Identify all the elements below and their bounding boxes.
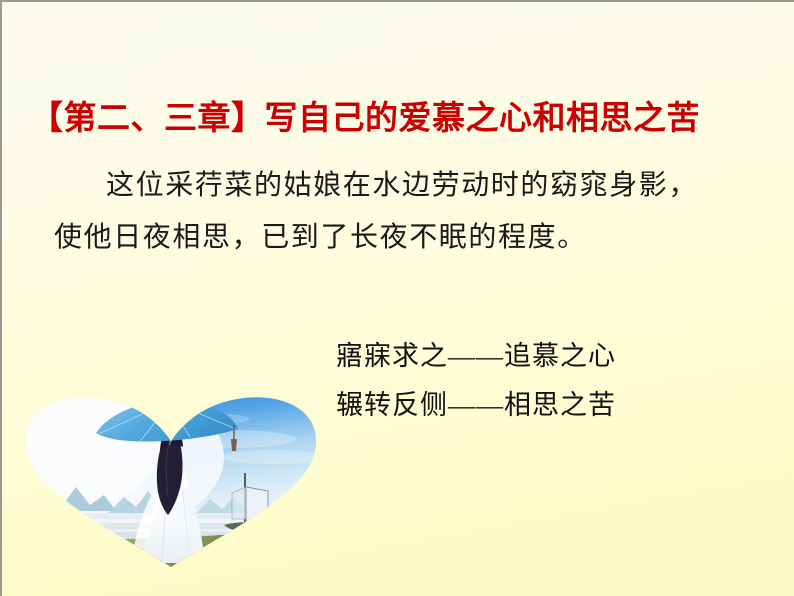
body-paragraph: 这位采荇菜的姑娘在水边劳动时的窈窕身影， 使他日夜相思，已到了长夜不眠的程度。 xyxy=(54,160,754,264)
slide-canvas: 【第二、三章】写自己的爱慕之心和相思之苦 这位采荇菜的姑娘在水边劳动时的窈窕身影… xyxy=(0,0,794,596)
body-line-2: 使他日夜相思，已到了长夜不眠的程度。 xyxy=(54,212,754,264)
heart-illustration xyxy=(20,395,322,567)
summary-line-2: 辗转反侧——相思之苦 xyxy=(336,381,616,430)
summary-block: 寤寐求之——追慕之心 辗转反侧——相思之苦 xyxy=(336,332,616,430)
summary-line-1: 寤寐求之——追慕之心 xyxy=(336,332,616,381)
page-title: 【第二、三章】写自己的爱慕之心和相思之苦 xyxy=(30,100,770,140)
body-line-1: 这位采荇菜的姑娘在水边劳动时的窈窕身影， xyxy=(54,160,754,212)
heart-image-svg xyxy=(20,395,322,567)
